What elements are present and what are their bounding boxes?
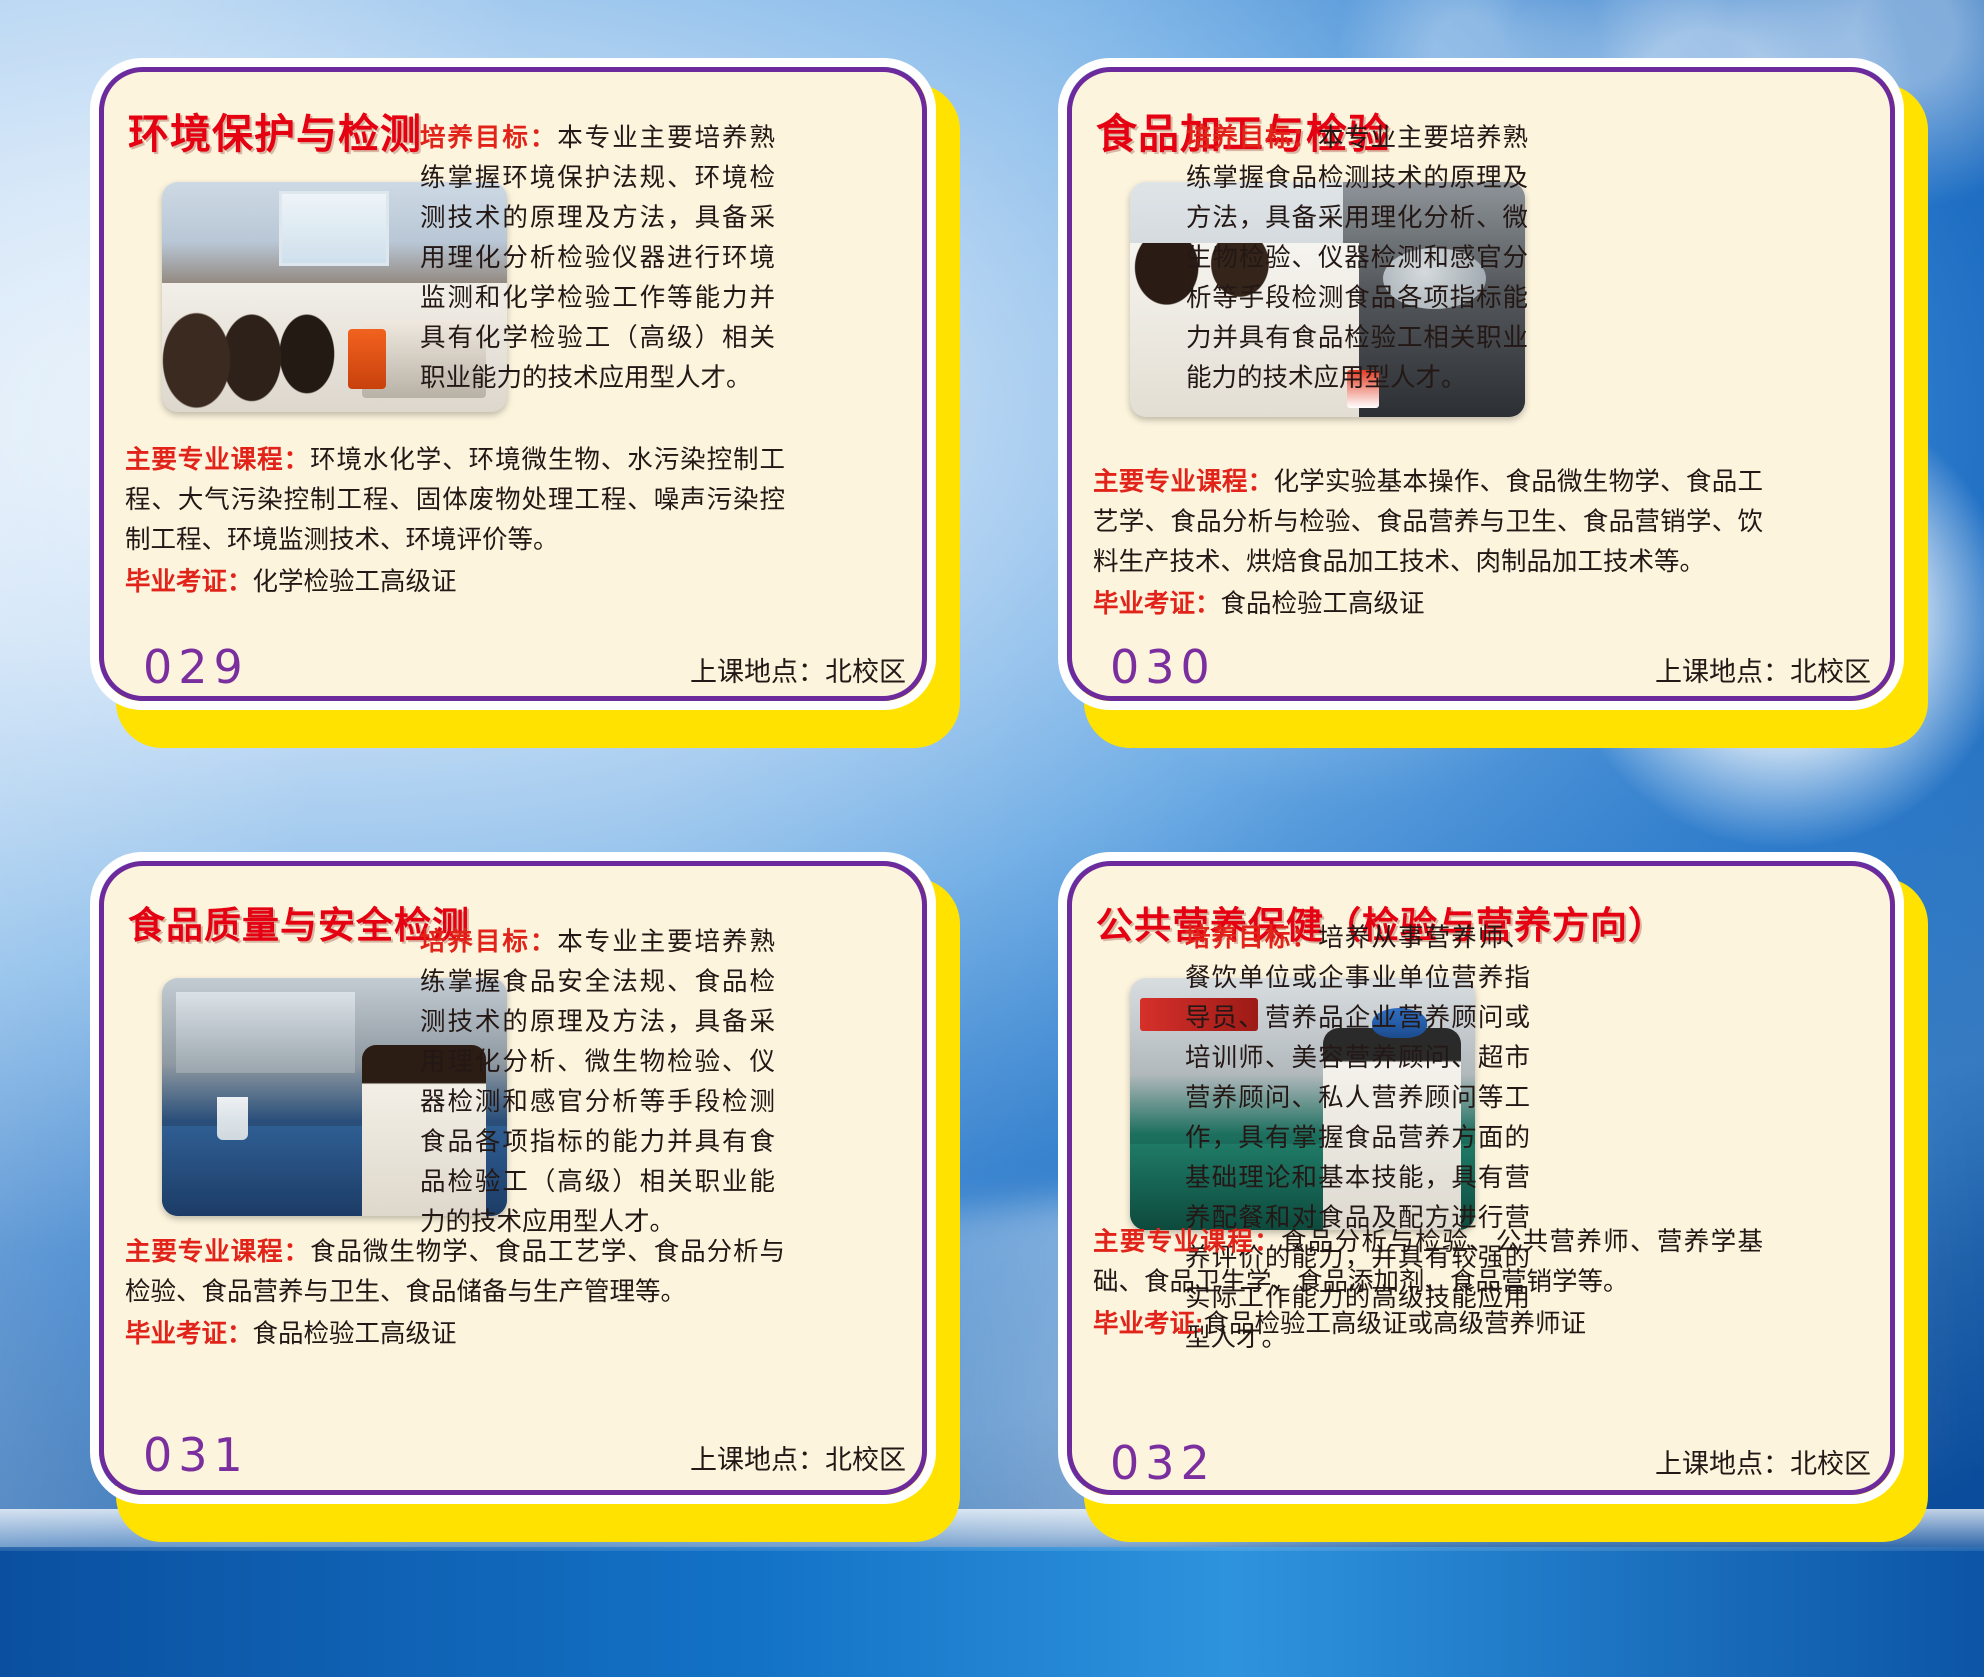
courses-label: 主要专业课程： bbox=[125, 446, 310, 474]
card-courses-030: 主要专业课程：化学实验基本操作、食品微生物学、食品工艺学、食品分析与检验、食品营… bbox=[1093, 462, 1763, 624]
goal-label: 培养目标： bbox=[420, 928, 557, 956]
card-goal-030: 培养目标：本专业主要培养熟练掌握食品检测技术的原理及方法，具备采用理化分析、微生… bbox=[1186, 118, 1528, 398]
program-card-grid: 环境保护与检测 培养目标：本专业主要培养熟练掌握环境保护法规、环境检测技术的原理… bbox=[0, 0, 1984, 1677]
cert-label: 毕业考证: bbox=[1093, 1310, 1204, 1338]
courses-label: 主要专业课程： bbox=[1093, 468, 1273, 496]
card-location-030: 上课地点：北校区 bbox=[1655, 650, 1871, 689]
card-courses-032: 主要专业课程：食品分析与检验、公共营养师、营养学基础、食品卫生学、食品添加剂、食… bbox=[1093, 1222, 1763, 1344]
card-title-029: 环境保护与检测 bbox=[128, 100, 422, 160]
card-courses-029: 主要专业课程：环境水化学、环境微生物、水污染控制工程、大气污染控制工程、固体废物… bbox=[125, 440, 785, 602]
goal-text: 本专业主要培养熟练掌握环境保护法规、环境检测技术的原理及方法，具备采用理化分析检… bbox=[420, 124, 775, 392]
cert-label: 毕业考证： bbox=[125, 568, 253, 596]
card-courses-031: 主要专业课程：食品微生物学、食品工艺学、食品分析与检验、食品营养与卫生、食品储备… bbox=[125, 1232, 785, 1354]
goal-label: 培养目标： bbox=[1185, 924, 1318, 952]
card-location-031: 上课地点：北校区 bbox=[690, 1438, 906, 1477]
goal-label: 培养目标： bbox=[1186, 124, 1318, 152]
goal-text: 本专业主要培养熟练掌握食品检测技术的原理及方法，具备采用理化分析、微生物检验、仪… bbox=[1186, 124, 1528, 392]
cert-label: 毕业考证： bbox=[125, 1320, 253, 1348]
card-location-029: 上课地点：北校区 bbox=[690, 650, 906, 689]
card-location-032: 上课地点：北校区 bbox=[1655, 1442, 1871, 1481]
courses-label: 主要专业课程： bbox=[1093, 1228, 1281, 1256]
goal-label: 培养目标： bbox=[420, 124, 557, 152]
cert-text: 化学检验工高级证 bbox=[253, 568, 457, 596]
cert-text: 食品检验工高级证 bbox=[1221, 590, 1425, 618]
card-number-029: 029 bbox=[143, 640, 249, 694]
card-number-032: 032 bbox=[1110, 1436, 1216, 1490]
cert-text: 食品检验工高级证 bbox=[253, 1320, 457, 1348]
card-goal-031: 培养目标：本专业主要培养熟练掌握食品安全法规、食品检测技术的原理及方法，具备采用… bbox=[420, 922, 775, 1242]
card-number-030: 030 bbox=[1110, 640, 1216, 694]
cert-text: 食品检验工高级证或高级营养师证 bbox=[1204, 1310, 1587, 1338]
card-title-031: 食品质量与安全检测 bbox=[128, 895, 470, 949]
cert-label: 毕业考证： bbox=[1093, 590, 1221, 618]
courses-label: 主要专业课程： bbox=[125, 1238, 310, 1266]
card-goal-029: 培养目标：本专业主要培养熟练掌握环境保护法规、环境检测技术的原理及方法，具备采用… bbox=[420, 118, 775, 398]
goal-text: 本专业主要培养熟练掌握食品安全法规、食品检测技术的原理及方法，具备采用理化分析、… bbox=[420, 928, 775, 1236]
card-number-031: 031 bbox=[143, 1428, 249, 1482]
